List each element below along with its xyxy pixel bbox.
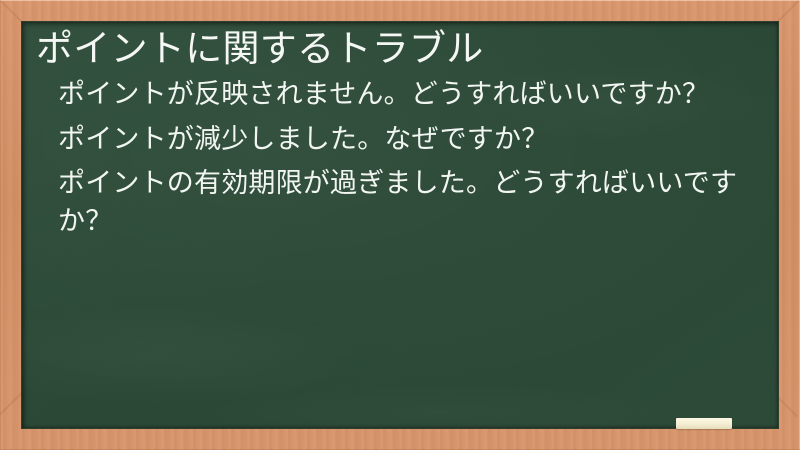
list-item: ポイントが反映されません。どうすればいいですか？ [58,75,748,113]
faq-question-list: ポイントが反映されません。どうすればいいですか？ ポイントが減少しました。なぜで… [30,75,762,240]
chalkboard-surface: ポイントに関するトラブル ポイントが反映されません。どうすればいいですか？ ポイ… [22,22,778,428]
chalk-stick-icon [676,418,732,429]
slide-root: ポイントに関するトラブル ポイントが反映されません。どうすればいいですか？ ポイ… [0,0,800,450]
list-item: ポイントが減少しました。なぜですか？ [58,120,748,158]
page-title: ポイントに関するトラブル [30,28,762,69]
list-item: ポイントの有効期限が過ぎました。どうすればいいですか？ [58,164,748,241]
chalkboard-content: ポイントに関するトラブル ポイントが反映されません。どうすればいいですか？ ポイ… [22,22,778,241]
frame-miter-bottom-left [0,391,24,416]
